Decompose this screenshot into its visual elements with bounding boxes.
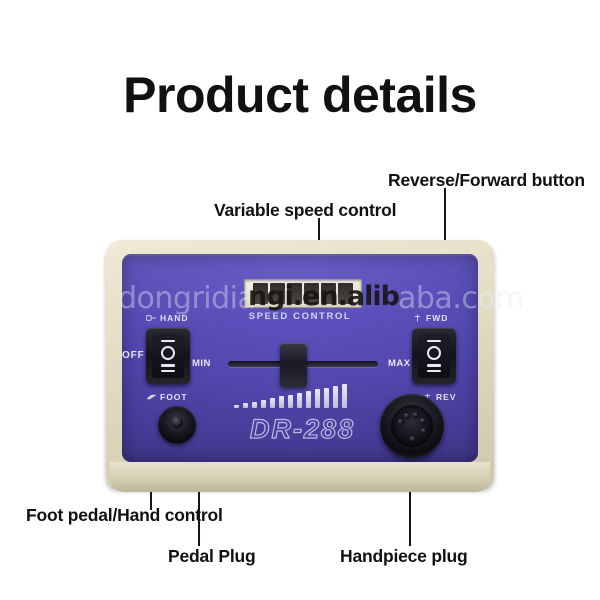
foot-pedal-icon — [146, 393, 157, 401]
din-pin — [397, 418, 404, 425]
rocker-mark-circle-icon — [427, 346, 441, 360]
rocker-mark-bar-icon — [427, 340, 441, 343]
callout-handpiece-plug: Handpiece plug — [340, 546, 468, 567]
hand-foot-rocker-switch[interactable] — [146, 328, 190, 384]
din-pin — [419, 417, 426, 424]
pedal-jack-port[interactable] — [158, 406, 196, 444]
speed-digit — [270, 283, 285, 304]
foot-mode-text: FOOT — [160, 392, 188, 402]
rocker-mark-double-bar-icon — [161, 364, 175, 372]
speed-bar — [279, 396, 284, 408]
rocker-mark-circle-icon — [161, 346, 175, 360]
speed-bar — [252, 402, 257, 409]
din-pin — [409, 435, 416, 442]
speed-display — [244, 279, 362, 308]
hand-mode-text: HAND — [160, 313, 189, 323]
speed-digit — [321, 283, 336, 304]
din-pin — [412, 411, 419, 418]
forward-arrow-icon — [412, 314, 423, 322]
callout-reverse-forward-button: Reverse/Forward button — [388, 170, 585, 191]
callout-pedal-plug: Pedal Plug — [168, 546, 255, 567]
speed-bar — [270, 398, 275, 408]
speed-bar — [288, 395, 293, 409]
reverse-mode-text: REV — [436, 392, 456, 402]
callout-variable-speed-control: Variable speed control — [214, 200, 396, 221]
speed-bar — [324, 388, 329, 409]
off-label: OFF — [122, 350, 144, 361]
rocker-mark-double-bar-icon — [427, 364, 441, 372]
speed-bar-graph — [234, 382, 374, 408]
speed-bar — [261, 400, 266, 408]
speed-digit — [287, 283, 302, 304]
speed-bar — [243, 403, 248, 408]
din-socket-inner — [391, 405, 433, 447]
speed-display-digits — [248, 283, 358, 304]
forward-mode-text: FWD — [426, 313, 448, 323]
forward-mode-label: FWD — [412, 313, 448, 323]
handpiece-din-socket[interactable] — [380, 394, 444, 458]
device-casing-bottom — [110, 462, 490, 492]
device-faceplate: SPEED CONTROL MIN MAX DR-288 HAND — [122, 254, 478, 462]
product-detail-image: Product details Reverse/Forward button V… — [0, 0, 600, 600]
foot-mode-label: FOOT — [146, 392, 188, 402]
rocker-face-right[interactable] — [418, 334, 450, 378]
speed-digit — [253, 283, 268, 304]
callout-foot-pedal-hand-control: Foot pedal/Hand control — [26, 505, 223, 526]
speed-bar — [306, 391, 311, 408]
speed-bar — [342, 384, 347, 408]
slider-max-label: MAX — [388, 358, 411, 369]
speed-bar — [315, 389, 320, 408]
hand-mode-label: HAND — [146, 313, 189, 323]
speed-digit — [338, 283, 353, 304]
din-pin — [420, 427, 427, 434]
speed-digit — [304, 283, 319, 304]
speed-bar — [333, 386, 338, 408]
rocker-face-left[interactable] — [152, 334, 184, 378]
page-title: Product details — [0, 66, 600, 124]
speed-bar — [297, 393, 302, 408]
rocker-mark-bar-icon — [161, 340, 175, 343]
reverse-forward-rocker-switch[interactable] — [412, 328, 456, 384]
speed-bar — [234, 405, 239, 408]
din-pin — [403, 412, 410, 419]
slider-min-label: MIN — [192, 358, 211, 369]
model-name: DR-288 — [250, 414, 355, 445]
handpiece-icon — [146, 314, 157, 322]
speed-slider-knob[interactable] — [280, 343, 307, 387]
control-box-device: SPEED CONTROL MIN MAX DR-288 HAND — [106, 240, 494, 498]
